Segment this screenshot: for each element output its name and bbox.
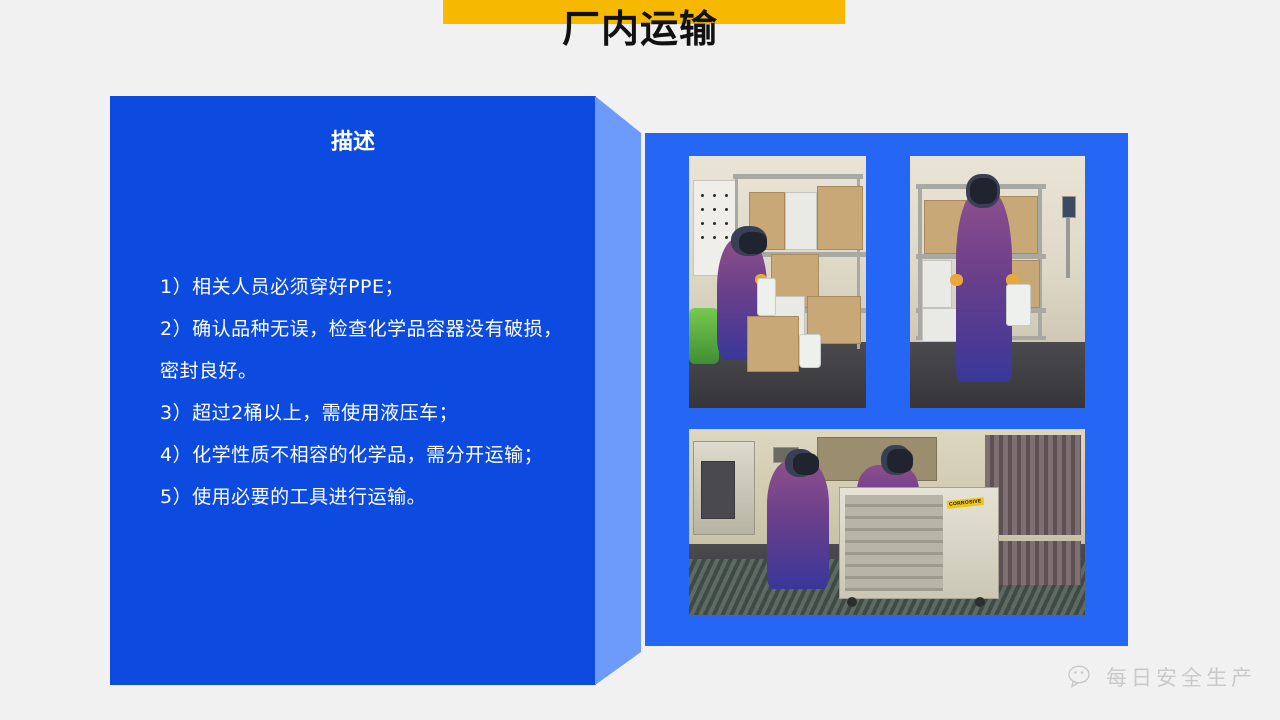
description-panel-arrow-wedge — [595, 96, 641, 685]
description-panel: 描述 1）相关人员必须穿好PPE； 2）确认品种无误，检查化学品容器没有破损，密… — [110, 96, 596, 685]
photo-worker-carrying-chemical-jug — [910, 156, 1085, 408]
watermark-text: 每日安全生产 — [1106, 662, 1256, 692]
list-item: 2）确认品种无误，检查化学品容器没有破损，密封良好。 — [160, 308, 580, 392]
photo-two-workers-pushing-corrosive-cart: CORROSIVE — [689, 429, 1085, 615]
page-title: 厂内运输 — [0, 4, 1280, 54]
list-item: 5）使用必要的工具进行运输。 — [160, 476, 580, 518]
list-item: 4）化学性质不相容的化学品，需分开运输； — [160, 434, 580, 476]
watermark: 每日安全生产 — [1068, 662, 1256, 692]
wechat-icon — [1068, 665, 1098, 689]
description-heading: 描述 — [110, 124, 596, 156]
list-item: 1）相关人员必须穿好PPE； — [160, 266, 580, 308]
photo-panel: CORROSIVE — [645, 133, 1128, 646]
list-item: 3）超过2桶以上，需使用液压车； — [160, 392, 580, 434]
description-list: 1）相关人员必须穿好PPE； 2）确认品种无误，检查化学品容器没有破损，密封良好… — [160, 266, 580, 518]
photo-worker-packing-chemical-box — [689, 156, 866, 408]
